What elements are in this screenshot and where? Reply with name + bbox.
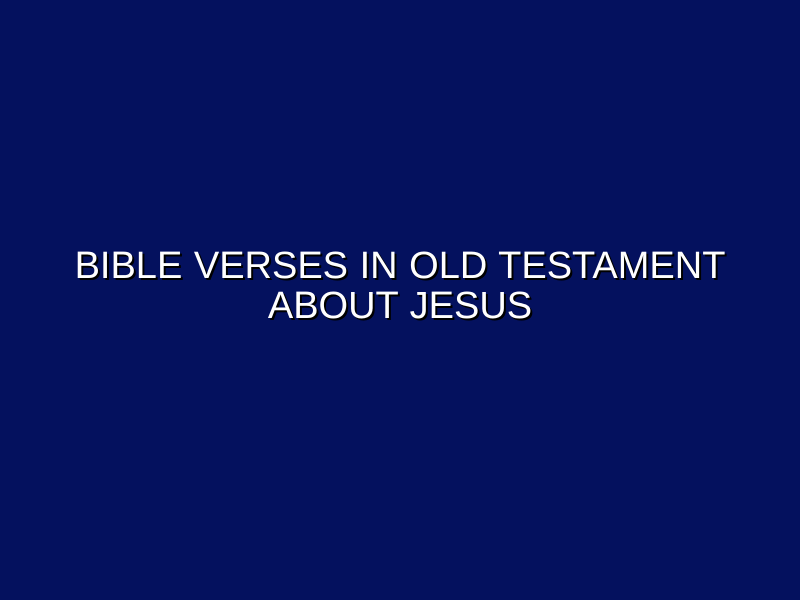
title-card-slide: BIBLE VERSES IN OLD TESTAMENT ABOUT JESU…: [0, 0, 800, 600]
headline-block: BIBLE VERSES IN OLD TESTAMENT ABOUT JESU…: [40, 246, 760, 326]
page-title: BIBLE VERSES IN OLD TESTAMENT ABOUT JESU…: [40, 246, 760, 326]
